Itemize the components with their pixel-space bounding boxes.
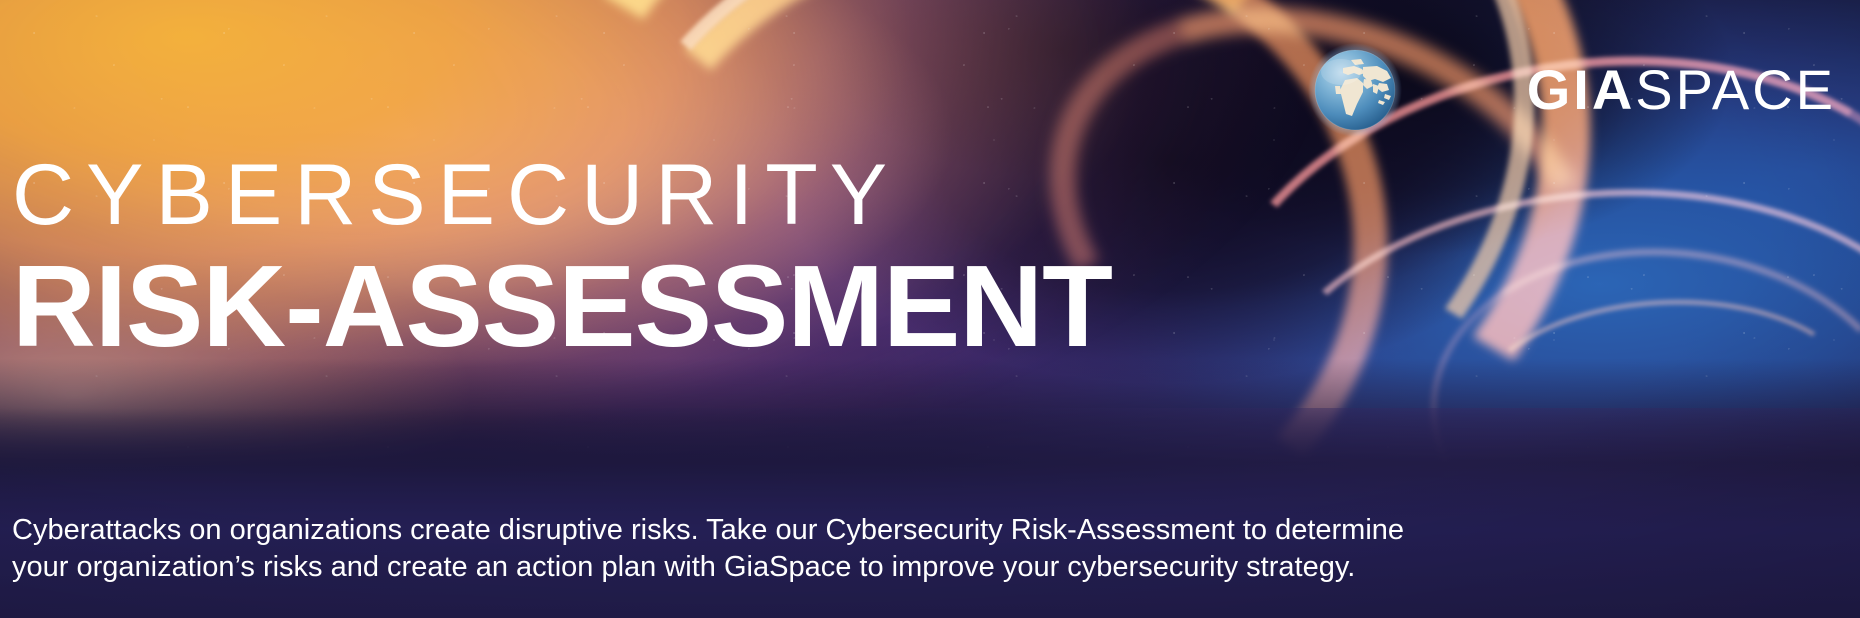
headline-block: CYBERSECURITY RISK-ASSESSMENT [12,152,1512,364]
cybersecurity-risk-assessment-banner: GIA SPACE CYBERSECURITY RISK-ASSESSMENT … [0,0,1860,618]
giaspace-logo[interactable]: GIA SPACE [1307,42,1836,138]
banner-content: GIA SPACE CYBERSECURITY RISK-ASSESSMENT … [0,0,1860,618]
wordmark-gia: GIA [1527,62,1636,118]
giaspace-wordmark: GIA SPACE [1527,62,1836,118]
banner-description: Cyberattacks on organizations create dis… [12,512,1512,586]
globe-icon [1307,42,1403,138]
wordmark-space: SPACE [1635,62,1836,118]
description-line-1: Cyberattacks on organizations create dis… [12,512,1512,549]
page-title: RISK-ASSESSMENT [12,248,1512,364]
description-line-2: your organization’s risks and create an … [12,549,1512,586]
headline-eyebrow: CYBERSECURITY [12,152,1512,238]
